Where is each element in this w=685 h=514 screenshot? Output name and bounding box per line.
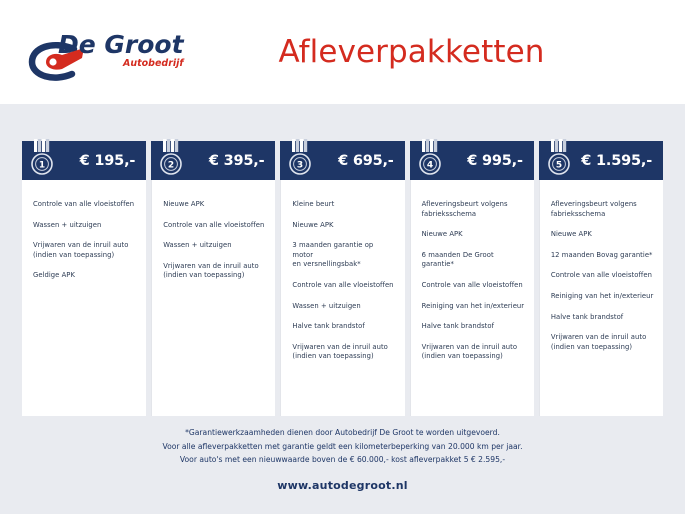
feature-item: Nieuwe APK	[551, 230, 654, 240]
feature-item: Halve tank brandstof	[292, 322, 395, 332]
content-area: 1 € 195,- Controle van alle vloeistoffen…	[0, 104, 685, 514]
feature-item: Vrijwaren van de inruil auto(indien van …	[292, 343, 395, 362]
package-column-1[interactable]: 1 € 195,- Controle van alle vloeistoffen…	[22, 141, 146, 416]
feature-item: 12 maanden Bovag garantie*	[551, 251, 654, 261]
feature-item: Kleine beurt	[292, 200, 395, 210]
footnotes: *Garantiewerkzaamheden dienen door Autob…	[0, 426, 685, 467]
package-header-4: 4 € 995,-	[410, 141, 534, 180]
feature-item: Controle van alle vloeistoffen	[163, 221, 266, 231]
feature-item: Controle van alle vloeistoffen	[292, 281, 395, 291]
feature-item: 6 maanden De Groot garantie*	[422, 251, 525, 270]
medal-rank-4: 4	[426, 161, 432, 171]
package-features-2: Nieuwe APK Controle van alle vloeistoffe…	[151, 180, 275, 416]
feature-item: Vrijwaren van de inruil auto(indien van …	[163, 262, 266, 281]
page-title-text: Afleverpakketten	[140, 34, 544, 70]
package-features-1: Controle van alle vloeistoffen Wassen + …	[22, 180, 146, 416]
feature-item: Wassen + uitzuigen	[163, 241, 266, 251]
medal-rank-2: 2	[168, 161, 174, 171]
package-header-2: 2 € 395,-	[151, 141, 275, 180]
feature-item: Controle van alle vloeistoffen	[551, 271, 654, 281]
feature-item: Reiniging van het in/exterieur	[422, 302, 525, 312]
package-columns: 1 € 195,- Controle van alle vloeistoffen…	[22, 141, 663, 416]
medal-icon: 5	[546, 139, 572, 179]
website-link[interactable]: www.autodegroot.nl	[0, 479, 685, 492]
footnote-line: *Garantiewerkzaamheden dienen door Autob…	[0, 426, 685, 440]
medal-icon: 4	[417, 139, 443, 179]
feature-item: Reiniging van het in/exterieur	[551, 292, 654, 302]
feature-item: Controle van alle vloeistoffen	[33, 200, 137, 210]
medal-icon: 1	[29, 139, 55, 179]
feature-item: Nieuwe APK	[163, 200, 266, 210]
package-header-5: 5 € 1.595,-	[539, 141, 663, 180]
feature-item: Wassen + uitzuigen	[33, 221, 137, 231]
feature-item: 3 maanden garantie op motoren versnellin…	[292, 241, 395, 270]
medal-rank-3: 3	[297, 161, 303, 171]
feature-item: Wassen + uitzuigen	[292, 302, 395, 312]
package-features-3: Kleine beurt Nieuwe APK 3 maanden garant…	[280, 180, 404, 416]
medal-icon: 3	[287, 139, 313, 179]
package-column-3[interactable]: 3 € 695,- Kleine beurt Nieuwe APK 3 maan…	[280, 141, 404, 416]
header-band: De Groot Autobedrijf Afleverpakketten	[0, 0, 685, 104]
footnote-line: Voor alle afleverpakketten met garantie …	[0, 440, 685, 454]
feature-item: Halve tank brandstof	[551, 313, 654, 323]
package-header-3: 3 € 695,-	[280, 141, 404, 180]
feature-item: Vrijwaren van de inruil auto(indien van …	[33, 241, 137, 260]
feature-item: Vrijwaren van de inruil auto(indien van …	[551, 333, 654, 352]
medal-icon: 2	[158, 139, 184, 179]
feature-item: Controle van alle vloeistoffen	[422, 281, 525, 291]
package-column-5[interactable]: 5 € 1.595,- Afleveringsbeurt volgensfabr…	[539, 141, 663, 416]
feature-item: Afleveringsbeurt volgensfabrieksschema	[422, 200, 525, 219]
feature-item: Vrijwaren van de inruil auto(indien van …	[422, 343, 525, 362]
feature-item: Nieuwe APK	[422, 230, 525, 240]
footnote-line: Voor auto's met een nieuwwaarde boven de…	[0, 453, 685, 467]
feature-item: Afleveringsbeurt volgensfabrieksschema	[551, 200, 654, 219]
package-header-1: 1 € 195,-	[22, 141, 146, 180]
feature-item: Halve tank brandstof	[422, 322, 525, 332]
package-features-4: Afleveringsbeurt volgensfabrieksschema N…	[410, 180, 534, 416]
page-title: Afleverpakketten	[0, 34, 685, 70]
package-features-5: Afleveringsbeurt volgensfabrieksschema N…	[539, 180, 663, 416]
feature-item: Nieuwe APK	[292, 221, 395, 231]
feature-item: Geldige APK	[33, 271, 137, 281]
package-column-2[interactable]: 2 € 395,- Nieuwe APK Controle van alle v…	[151, 141, 275, 416]
package-column-4[interactable]: 4 € 995,- Afleveringsbeurt volgensfabrie…	[410, 141, 534, 416]
medal-rank-5: 5	[556, 161, 562, 171]
medal-rank-1: 1	[39, 161, 45, 171]
